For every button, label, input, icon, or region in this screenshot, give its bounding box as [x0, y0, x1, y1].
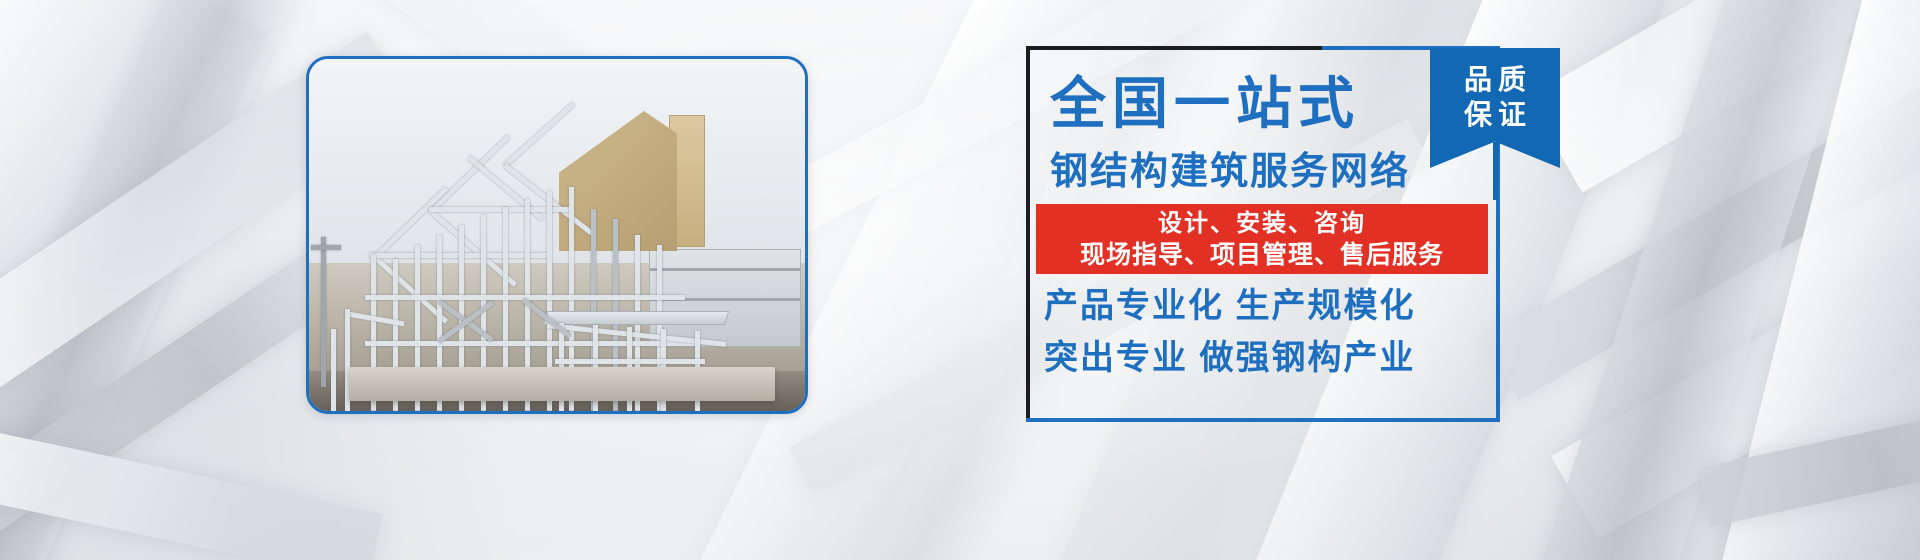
quality-badge-ribbon: 品质 保证 — [1430, 22, 1560, 168]
slogan-line-2: 突出专业 做强钢构产业 — [1044, 338, 1415, 378]
promo-banner: 全国一站式 钢结构建筑服务网络 设计、安装、咨询 现场指导、项目管理、售后服务 … — [0, 0, 1920, 560]
ribbon-pole — [1493, 142, 1498, 200]
slogan-line-1: 产品专业化 生产规模化 — [1044, 286, 1415, 326]
ribbon-line-1: 品质 — [1458, 62, 1532, 97]
background-steel-texture — [0, 0, 1920, 560]
message-panel: 全国一站式 钢结构建筑服务网络 设计、安装、咨询 现场指导、项目管理、售后服务 … — [1026, 46, 1500, 422]
services-line-1: 设计、安装、咨询 — [1158, 208, 1366, 239]
services-line-2: 现场指导、项目管理、售后服务 — [1080, 239, 1444, 271]
headline-title: 全国一站式 — [1050, 74, 1360, 134]
photo-concrete-slab — [349, 367, 776, 401]
ribbon-line-2: 保证 — [1458, 97, 1532, 132]
subtitle-text: 钢结构建筑服务网络 — [1050, 150, 1410, 194]
project-photo-card — [306, 56, 808, 414]
services-highlight-box: 设计、安装、咨询 现场指导、项目管理、售后服务 — [1036, 204, 1488, 274]
photo-steel-frame-house — [309, 59, 805, 411]
